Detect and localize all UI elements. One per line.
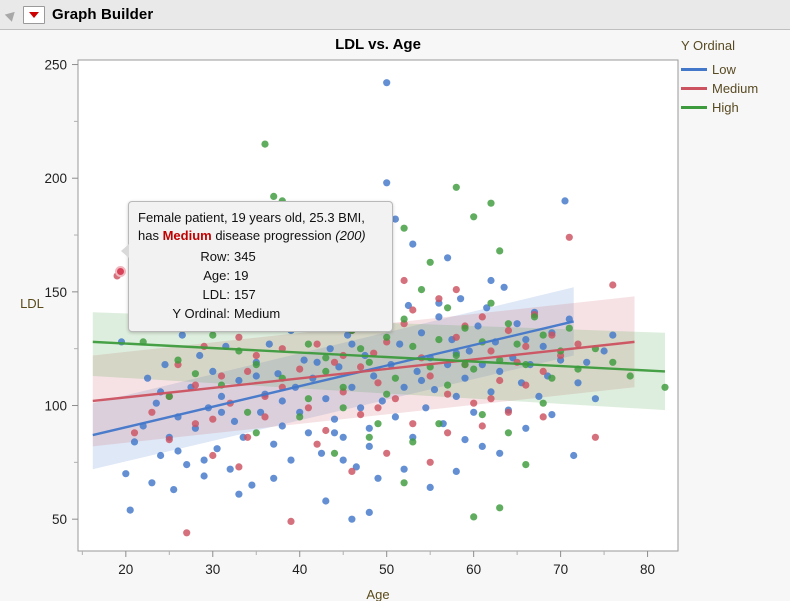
data-point[interactable] (322, 395, 329, 402)
data-point[interactable] (183, 529, 190, 536)
y-tick-label: 150 (44, 285, 67, 300)
legend-item-low[interactable]: Low (681, 60, 789, 79)
window-titlebar: Graph Builder (0, 0, 790, 30)
legend-item-medium[interactable]: Medium (681, 79, 789, 98)
data-point[interactable] (144, 375, 151, 382)
data-point[interactable] (522, 382, 529, 389)
data-point[interactable] (583, 359, 590, 366)
tooltip-sentence: Female patient, 19 years old, 25.3 BMI, … (138, 209, 383, 245)
tooltip-row-key: Row: (138, 247, 234, 266)
y-tick-label: 100 (44, 399, 67, 414)
data-point[interactable] (418, 377, 425, 384)
data-point[interactable] (348, 468, 355, 475)
y-axis-label: LDL (20, 296, 44, 311)
data-point[interactable] (331, 416, 338, 423)
data-point[interactable] (461, 375, 468, 382)
legend-item-label: High (712, 100, 739, 115)
legend-item-label: Low (712, 62, 736, 77)
data-point[interactable] (357, 404, 364, 411)
data-point[interactable] (401, 225, 408, 232)
data-point[interactable] (601, 347, 608, 354)
data-point[interactable] (305, 429, 312, 436)
data-point[interactable] (348, 516, 355, 523)
data-point[interactable] (522, 461, 529, 468)
data-point[interactable] (479, 443, 486, 450)
data-point[interactable] (357, 345, 364, 352)
data-point[interactable] (235, 334, 242, 341)
data-point[interactable] (470, 513, 477, 520)
data-point[interactable] (453, 334, 460, 341)
data-point[interactable] (218, 393, 225, 400)
data-point[interactable] (201, 457, 208, 464)
tooltip-row: Row:345 (138, 247, 383, 266)
x-tick-label: 60 (466, 562, 481, 577)
tooltip-row-key: LDL: (138, 285, 234, 304)
data-point[interactable] (322, 368, 329, 375)
data-point[interactable] (453, 184, 460, 191)
data-point[interactable] (392, 375, 399, 382)
data-point[interactable] (479, 422, 486, 429)
data-point[interactable] (409, 343, 416, 350)
data-point[interactable] (366, 425, 373, 432)
data-point[interactable] (609, 359, 616, 366)
chart-area: LDL vs. Age 5010015020025020304050607080… (0, 31, 790, 601)
data-point[interactable] (131, 438, 138, 445)
data-point[interactable] (548, 411, 555, 418)
data-point[interactable] (496, 247, 503, 254)
tooltip-paren-value: (200) (335, 228, 365, 243)
data-point[interactable] (174, 357, 181, 364)
data-point[interactable] (487, 388, 494, 395)
data-point[interactable] (383, 79, 390, 86)
data-point[interactable] (540, 343, 547, 350)
data-point[interactable] (127, 507, 134, 514)
data-point[interactable] (322, 427, 329, 434)
data-point[interactable] (270, 475, 277, 482)
data-point[interactable] (427, 484, 434, 491)
data-point[interactable] (548, 332, 555, 339)
data-point[interactable] (401, 479, 408, 486)
data-point[interactable] (505, 429, 512, 436)
data-point[interactable] (409, 306, 416, 313)
data-point[interactable] (244, 409, 251, 416)
x-tick-label: 50 (379, 562, 394, 577)
y-tick-label: 200 (44, 171, 67, 186)
data-point[interactable] (453, 393, 460, 400)
data-point[interactable] (331, 359, 338, 366)
data-point[interactable] (244, 368, 251, 375)
data-point[interactable] (305, 341, 312, 348)
tooltip-row: LDL:157 (138, 285, 383, 304)
data-point[interactable] (201, 472, 208, 479)
data-point[interactable] (609, 281, 616, 288)
x-tick-label: 40 (292, 562, 307, 577)
data-point[interactable] (461, 436, 468, 443)
data-point[interactable] (192, 420, 199, 427)
tooltip-row: Age:19 (138, 266, 383, 285)
data-point[interactable] (383, 334, 390, 341)
data-point[interactable] (374, 404, 381, 411)
data-point[interactable] (261, 141, 268, 148)
data-point[interactable] (540, 400, 547, 407)
data-point[interactable] (196, 352, 203, 359)
data-point[interactable] (122, 470, 129, 477)
tooltip-row-value: 157 (234, 285, 383, 304)
data-point[interactable] (401, 277, 408, 284)
data-point[interactable] (296, 413, 303, 420)
red-triangle-menu-icon[interactable] (23, 6, 45, 24)
data-point[interactable] (266, 341, 273, 348)
data-point[interactable] (574, 379, 581, 386)
data-point[interactable] (431, 386, 438, 393)
data-point[interactable] (566, 325, 573, 332)
data-point[interactable] (496, 504, 503, 511)
data-point[interactable] (435, 420, 442, 427)
data-point[interactable] (535, 393, 542, 400)
data-point[interactable] (287, 518, 294, 525)
data-point[interactable] (479, 313, 486, 320)
tooltip-rows: Row:345Age:19LDL:157Y Ordinal:Medium (138, 247, 383, 323)
data-point[interactable] (253, 361, 260, 368)
window-title: Graph Builder (52, 6, 153, 23)
data-point[interactable] (401, 316, 408, 323)
tooltip-row: Y Ordinal:Medium (138, 304, 383, 323)
data-point[interactable] (166, 436, 173, 443)
legend-item-high[interactable]: High (681, 98, 789, 117)
data-point[interactable] (453, 352, 460, 359)
data-point[interactable] (227, 466, 234, 473)
tooltip-row-value: Medium (234, 304, 383, 323)
data-point[interactable] (148, 409, 155, 416)
data-point[interactable] (192, 382, 199, 389)
data-point[interactable] (409, 420, 416, 427)
data-point[interactable] (209, 416, 216, 423)
data-point[interactable] (487, 200, 494, 207)
x-tick-label: 70 (553, 562, 568, 577)
data-point[interactable] (331, 429, 338, 436)
data-point[interactable] (322, 354, 329, 361)
data-point[interactable] (235, 377, 242, 384)
data-point[interactable] (161, 361, 168, 368)
y-tick-label: 50 (52, 512, 67, 527)
data-point[interactable] (183, 461, 190, 468)
data-point[interactable] (514, 320, 521, 327)
data-point[interactable] (279, 397, 286, 404)
legend: Y Ordinal LowMediumHigh (681, 38, 789, 117)
data-point[interactable] (348, 341, 355, 348)
data-point[interactable] (505, 409, 512, 416)
tooltip-pointer-icon (121, 244, 129, 258)
data-point[interactable] (314, 341, 321, 348)
data-point[interactable] (540, 368, 547, 375)
data-point[interactable] (374, 379, 381, 386)
tooltip-row-key: Y Ordinal: (138, 304, 234, 323)
data-point[interactable] (592, 434, 599, 441)
legend-swatch-icon (681, 87, 707, 90)
data-point[interactable] (357, 363, 364, 370)
data-point[interactable] (374, 475, 381, 482)
data-point[interactable] (235, 491, 242, 498)
data-point[interactable] (514, 341, 521, 348)
legend-swatch-icon (681, 68, 707, 71)
x-tick-label: 20 (118, 562, 133, 577)
data-point[interactable] (401, 466, 408, 473)
x-axis-label: Age (366, 587, 389, 601)
data-point[interactable] (505, 320, 512, 327)
data-point[interactable] (661, 384, 668, 391)
data-point[interactable] (396, 341, 403, 348)
data-point[interactable] (487, 347, 494, 354)
data-point[interactable] (383, 179, 390, 186)
data-point[interactable] (414, 368, 421, 375)
data-point[interactable] (383, 391, 390, 398)
data-point[interactable] (392, 395, 399, 402)
x-tick-label: 80 (640, 562, 655, 577)
data-point[interactable] (496, 450, 503, 457)
data-point[interactable] (214, 445, 221, 452)
data-point[interactable] (379, 397, 386, 404)
data-point[interactable] (340, 384, 347, 391)
data-point[interactable] (131, 429, 138, 436)
tooltip-highlight: Medium (163, 228, 212, 243)
data-point[interactable] (218, 372, 225, 379)
data-point[interactable] (357, 411, 364, 418)
datapoint-tooltip: Female patient, 19 years old, 25.3 BMI, … (128, 201, 393, 332)
data-point[interactable] (305, 395, 312, 402)
data-point[interactable] (570, 452, 577, 459)
data-point[interactable] (253, 429, 260, 436)
scatter-plot[interactable]: 5010015020025020304050607080AgeLDL (0, 31, 790, 601)
data-point[interactable] (470, 366, 477, 373)
data-point[interactable] (327, 345, 334, 352)
data-point[interactable] (444, 429, 451, 436)
data-point[interactable] (470, 400, 477, 407)
data-point[interactable] (370, 372, 377, 379)
data-point[interactable] (340, 404, 347, 411)
data-point[interactable] (418, 329, 425, 336)
data-point[interactable] (314, 441, 321, 448)
data-point[interactable] (444, 391, 451, 398)
x-tick-label: 30 (205, 562, 220, 577)
data-point[interactable] (427, 259, 434, 266)
legend-swatch-icon (681, 106, 707, 109)
data-point[interactable] (435, 295, 442, 302)
data-point[interactable] (457, 295, 464, 302)
data-point[interactable] (366, 359, 373, 366)
data-point[interactable] (253, 352, 260, 359)
data-point[interactable] (148, 479, 155, 486)
data-point[interactable] (470, 213, 477, 220)
data-point[interactable] (435, 336, 442, 343)
data-point[interactable] (296, 366, 303, 373)
data-point[interactable] (435, 313, 442, 320)
data-point[interactable] (609, 332, 616, 339)
data-point[interactable] (505, 327, 512, 334)
data-point[interactable] (540, 413, 547, 420)
data-point[interactable] (427, 372, 434, 379)
data-point[interactable] (340, 457, 347, 464)
data-point[interactable] (366, 509, 373, 516)
triangle-collapse-icon[interactable] (2, 0, 20, 30)
data-point[interactable] (366, 443, 373, 450)
data-point[interactable] (279, 422, 286, 429)
legend-title: Y Ordinal (681, 38, 789, 53)
data-point[interactable] (170, 486, 177, 493)
data-point[interactable] (453, 468, 460, 475)
data-point[interactable] (231, 418, 238, 425)
data-point[interactable] (401, 384, 408, 391)
data-point[interactable] (496, 377, 503, 384)
tooltip-row-value: 345 (234, 247, 383, 266)
data-point[interactable] (479, 411, 486, 418)
data-point[interactable] (340, 434, 347, 441)
data-point[interactable] (501, 284, 508, 291)
data-point[interactable] (322, 497, 329, 504)
data-point[interactable] (409, 241, 416, 248)
data-point[interactable] (548, 375, 555, 382)
data-point[interactable] (209, 332, 216, 339)
legend-item-label: Medium (712, 81, 758, 96)
data-point[interactable] (374, 420, 381, 427)
data-point[interactable] (331, 450, 338, 457)
data-point[interactable] (301, 357, 308, 364)
data-point[interactable] (487, 277, 494, 284)
data-point[interactable] (566, 234, 573, 241)
data-point[interactable] (474, 322, 481, 329)
y-tick-label: 250 (44, 58, 67, 73)
graph-builder-window: Graph Builder LDL vs. Age 50100150200250… (0, 0, 790, 601)
data-point[interactable] (392, 413, 399, 420)
data-point[interactable] (427, 459, 434, 466)
data-point[interactable] (218, 409, 225, 416)
data-point[interactable] (314, 359, 321, 366)
tooltip-row-value: 19 (234, 266, 383, 285)
data-point[interactable] (383, 450, 390, 457)
data-point[interactable] (270, 441, 277, 448)
tooltip-row-key: Age: (138, 266, 234, 285)
data-point[interactable] (244, 434, 251, 441)
data-point[interactable] (261, 413, 268, 420)
data-point[interactable] (248, 482, 255, 489)
data-point[interactable] (422, 404, 429, 411)
data-point[interactable] (153, 400, 160, 407)
data-point[interactable] (561, 197, 568, 204)
data-point[interactable] (270, 193, 277, 200)
data-point[interactable] (531, 313, 538, 320)
data-point[interactable] (305, 404, 312, 411)
data-point[interactable] (253, 372, 260, 379)
data-point[interactable] (192, 370, 199, 377)
data-point[interactable] (209, 368, 216, 375)
data-point[interactable] (470, 409, 477, 416)
data-point[interactable] (540, 332, 547, 339)
data-point[interactable] (157, 452, 164, 459)
data-point[interactable] (627, 372, 634, 379)
data-point[interactable] (466, 347, 473, 354)
data-point[interactable] (179, 332, 186, 339)
data-point[interactable] (522, 343, 529, 350)
data-point[interactable] (453, 286, 460, 293)
data-point[interactable] (444, 382, 451, 389)
tooltip-sentence-post: disease progression (212, 228, 336, 243)
data-point[interactable] (487, 395, 494, 402)
data-point[interactable] (209, 452, 216, 459)
data-point[interactable] (348, 384, 355, 391)
data-point[interactable] (522, 336, 529, 343)
data-point[interactable] (522, 425, 529, 432)
data-point[interactable] (496, 368, 503, 375)
data-point[interactable] (174, 447, 181, 454)
data-point[interactable] (287, 457, 294, 464)
data-point[interactable] (461, 325, 468, 332)
data-point[interactable] (235, 463, 242, 470)
data-point[interactable] (418, 286, 425, 293)
data-point[interactable] (444, 304, 451, 311)
data-point[interactable] (487, 300, 494, 307)
data-point[interactable] (318, 450, 325, 457)
data-point[interactable] (592, 395, 599, 402)
data-point[interactable] (444, 254, 451, 261)
data-point[interactable] (366, 434, 373, 441)
data-point[interactable] (409, 438, 416, 445)
selected-data-point[interactable] (115, 266, 126, 277)
